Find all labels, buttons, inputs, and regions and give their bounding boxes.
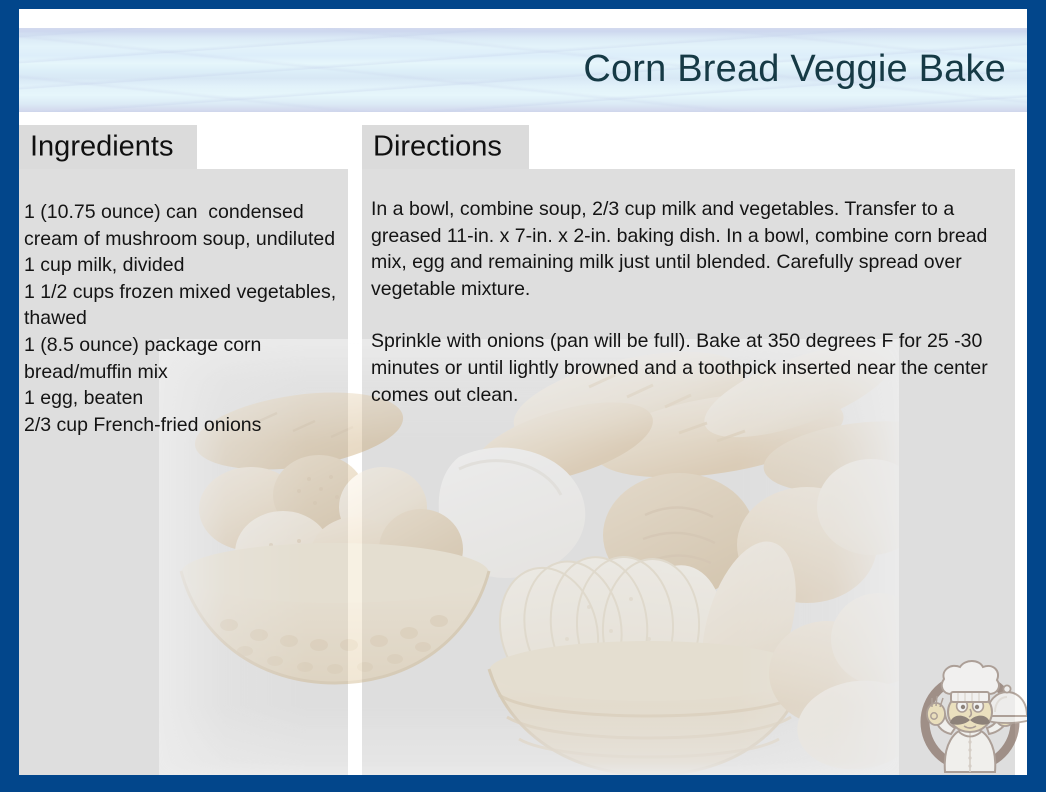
ingredients-list: 1 (10.75 ounce) can condensed cream of m… [24,199,344,438]
page-title: Corn Bread Veggie Bake [583,49,1006,91]
slide-page: Corn Bread Veggie Bake Ingredients 1 (10… [19,9,1027,775]
slide-canvas: Corn Bread Veggie Bake Ingredients 1 (10… [0,0,1046,792]
directions-paragraph: Sprinkle with onions (pan will be full).… [371,328,1008,408]
ingredients-heading-box: Ingredients [19,125,197,169]
ingredients-body-text: 1 (10.75 ounce) can condensed cream of m… [24,199,344,438]
directions-body: In a bowl, combine soup, 2/3 cup milk an… [371,196,1008,408]
chef-mascot-logo [907,654,1027,775]
directions-heading-box: Directions [362,125,529,169]
ingredients-heading: Ingredients [30,131,174,164]
title-banner: Corn Bread Veggie Bake [19,28,1027,112]
directions-heading: Directions [373,131,502,164]
directions-paragraph: In a bowl, combine soup, 2/3 cup milk an… [371,196,1008,302]
